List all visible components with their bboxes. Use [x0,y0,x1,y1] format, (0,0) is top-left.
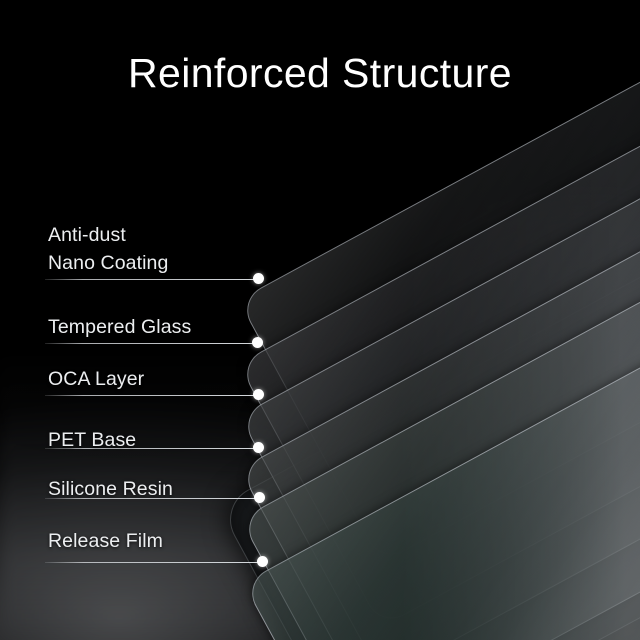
leader-line-anti-dust-nano-coating [45,279,255,280]
layer-label-anti-dust-nano-coating: Anti-dust Nano Coating [48,222,168,277]
layer-label-release-film: Release Film [48,528,163,556]
leader-line-release-film [45,562,259,563]
layer-label-pet-base: PET Base [48,427,136,455]
page-title: Reinforced Structure [0,50,640,97]
layer-label-oca-layer: OCA Layer [48,366,144,394]
leader-line-oca-layer [45,395,255,396]
leader-line-tempered-glass [45,343,254,344]
layer-marker-dot-pet-base[interactable] [253,442,264,453]
layer-marker-dot-release-film[interactable] [257,556,268,567]
layer-marker-dot-tempered-glass[interactable] [252,337,263,348]
infographic-canvas: Anti-dust Nano CoatingTempered GlassOCA … [0,0,640,640]
layer-marker-dot-oca-layer[interactable] [253,389,264,400]
layer-label-tempered-glass: Tempered Glass [48,314,191,342]
layer-marker-dot-anti-dust-nano-coating[interactable] [253,273,264,284]
layer-marker-dot-silicone-resin[interactable] [254,492,265,503]
layer-label-silicone-resin: Silicone Resin [48,476,173,504]
